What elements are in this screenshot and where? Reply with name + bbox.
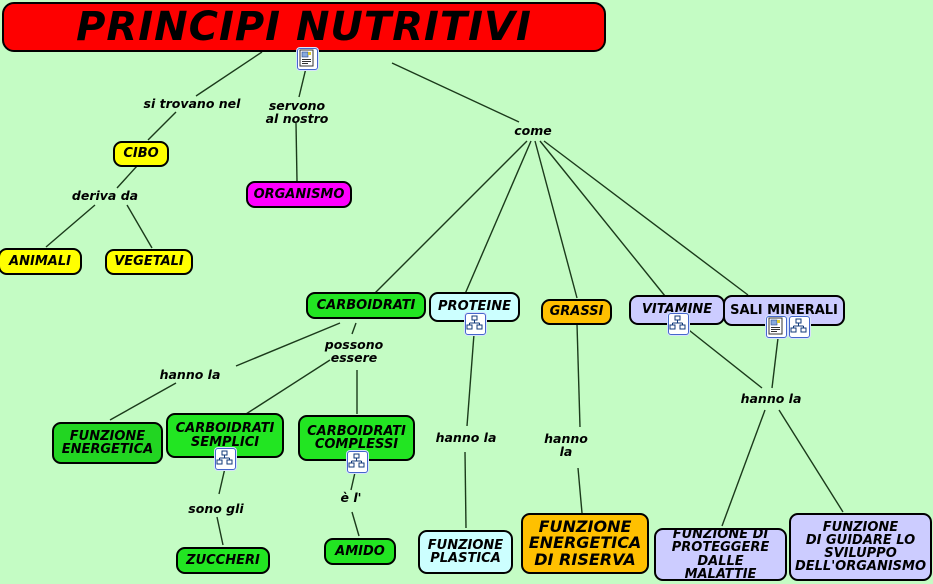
edge-label-si-trovano-nel: si trovano nel (132, 97, 252, 110)
node-funzione-plastica[interactable]: FUNZIONE PLASTICA (418, 530, 513, 574)
proteine-icon-group[interactable] (465, 313, 486, 335)
node-carboidrati[interactable]: CARBOIDRATI (306, 292, 426, 319)
node-zuccheri[interactable]: ZUCCHERI (176, 547, 270, 574)
hierarchy-icon[interactable] (215, 448, 236, 470)
map-title-banner: PRINCIPI NUTRITIVI (2, 2, 606, 52)
node-funzione-energetica-riserva[interactable]: FUNZIONE ENERGETICA DI RISERVA (521, 513, 649, 574)
concept-map-canvas: PRINCIPI NUTRITIVI CIBO ORGANISMO ANIMAL… (0, 0, 933, 584)
carboidrati-complessi-icon-group[interactable] (347, 451, 368, 473)
hierarchy-icon[interactable] (465, 313, 486, 335)
edge-label-hanno-la-grassi: hanno la (539, 432, 593, 459)
edge-label-come: come (503, 124, 563, 137)
node-funzione-proteggere[interactable]: FUNZIONE DI PROTEGGERE DALLE MALATTIE (654, 528, 787, 581)
edge-label-e-l: è l' (327, 491, 375, 504)
hierarchy-icon[interactable] (789, 316, 810, 338)
edge-label-hanno-la-carboidrati: hanno la (152, 368, 228, 381)
note-icon[interactable] (766, 316, 787, 338)
edge-label-sono-gli: sono gli (182, 502, 250, 515)
node-cibo[interactable]: CIBO (113, 141, 169, 167)
map-title-text: PRINCIPI NUTRITIVI (76, 4, 532, 50)
hierarchy-icon[interactable] (668, 313, 689, 335)
vitamine-icon-group[interactable] (668, 313, 689, 335)
hierarchy-icon[interactable] (347, 451, 368, 473)
note-icon[interactable] (297, 48, 318, 70)
edge-label-possono-essere: possono essere (316, 338, 392, 365)
sali-minerali-icon-group[interactable] (766, 316, 810, 338)
node-amido[interactable]: AMIDO (324, 538, 396, 565)
node-funzione-energetica[interactable]: FUNZIONE ENERGETICA (52, 422, 163, 464)
node-organismo[interactable]: ORGANISMO (246, 181, 352, 208)
node-vegetali[interactable]: VEGETALI (105, 249, 193, 275)
edge-label-hanno-la-vitamine: hanno la (733, 392, 809, 405)
title-note-icon-group[interactable] (297, 48, 318, 70)
edge-label-servono-al-nostro: servono al nostro (252, 99, 342, 126)
carboidrati-semplici-icon-group[interactable] (215, 448, 236, 470)
node-grassi[interactable]: GRASSI (541, 299, 612, 325)
edge-label-deriva-da: deriva da (64, 189, 146, 202)
edge-label-hanno-la-proteine: hanno la (428, 431, 504, 444)
node-funzione-guidare[interactable]: FUNZIONE DI GUIDARE LO SVILUPPO DELL'ORG… (789, 513, 932, 581)
node-animali[interactable]: ANIMALI (0, 248, 82, 275)
